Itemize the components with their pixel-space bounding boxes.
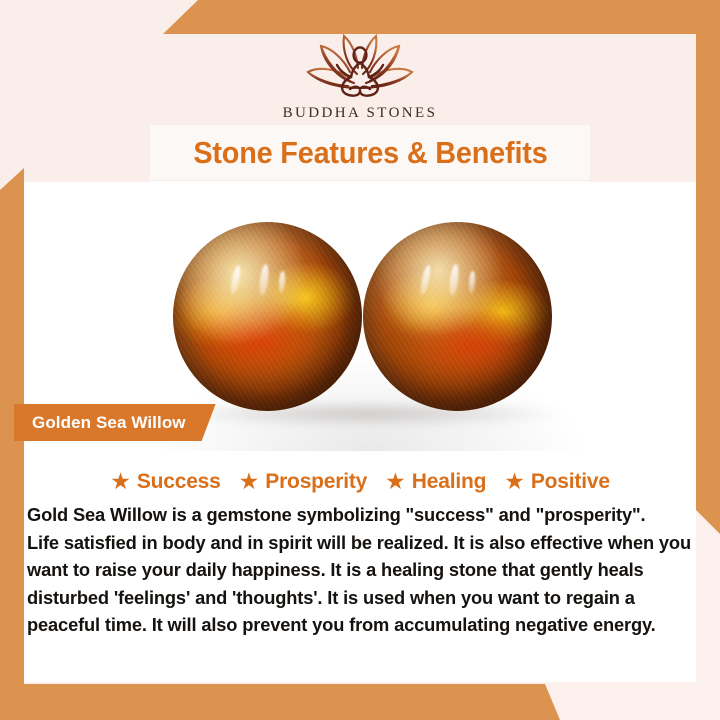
- stone-sphere-right: [363, 222, 552, 411]
- sphere-halo: [363, 222, 552, 411]
- frame-left-bar: [0, 168, 24, 720]
- benefit-item: ★ Prosperity: [230, 470, 377, 494]
- frame-bottom-bar: [0, 684, 720, 720]
- stone-name-label: Golden Sea Willow: [32, 413, 186, 433]
- lotus-meditation-icon: [284, 28, 436, 102]
- benefit-label: Prosperity: [265, 470, 367, 494]
- description-line: Gold Sea Willow is a gemstone symbolizin…: [27, 501, 693, 529]
- product-photo: [150, 181, 590, 451]
- brand-name: BUDDHA STONES: [283, 105, 438, 122]
- description-line: Life satisfied in body and in spirit wil…: [27, 529, 693, 557]
- photo-shadow: [168, 401, 568, 427]
- title-banner: Stone Features & Benefits: [150, 125, 590, 180]
- description-block: Gold Sea Willow is a gemstone symbolizin…: [27, 501, 693, 639]
- page-title: Stone Features & Benefits: [193, 135, 547, 171]
- product-infographic: BUDDHA STONES Stone Features & Benefits …: [0, 0, 720, 720]
- stone-sphere-left: [173, 222, 362, 411]
- stone-name-badge: Golden Sea Willow: [14, 404, 216, 441]
- benefit-label: Positive: [531, 470, 610, 494]
- benefit-item: ★ Positive: [495, 470, 619, 494]
- benefit-label: Success: [137, 470, 221, 494]
- star-icon: ★: [504, 470, 525, 493]
- star-icon: ★: [385, 470, 406, 493]
- description-line: disturbed 'feelings' and 'thoughts'. It …: [27, 584, 693, 612]
- benefit-label: Healing: [412, 470, 486, 494]
- benefit-item: ★ Healing: [376, 470, 495, 494]
- description-line: peaceful time. It will also prevent you …: [27, 611, 693, 639]
- star-icon: ★: [239, 470, 260, 493]
- benefit-item: ★ Success: [101, 470, 229, 494]
- description-line: want to raise your daily happiness. It i…: [27, 556, 693, 584]
- star-icon: ★: [110, 470, 131, 493]
- sphere-halo: [173, 222, 362, 411]
- brand-logo: BUDDHA STONES: [0, 28, 720, 128]
- benefits-row: ★ Success ★ Prosperity ★ Healing ★ Posit…: [24, 466, 696, 498]
